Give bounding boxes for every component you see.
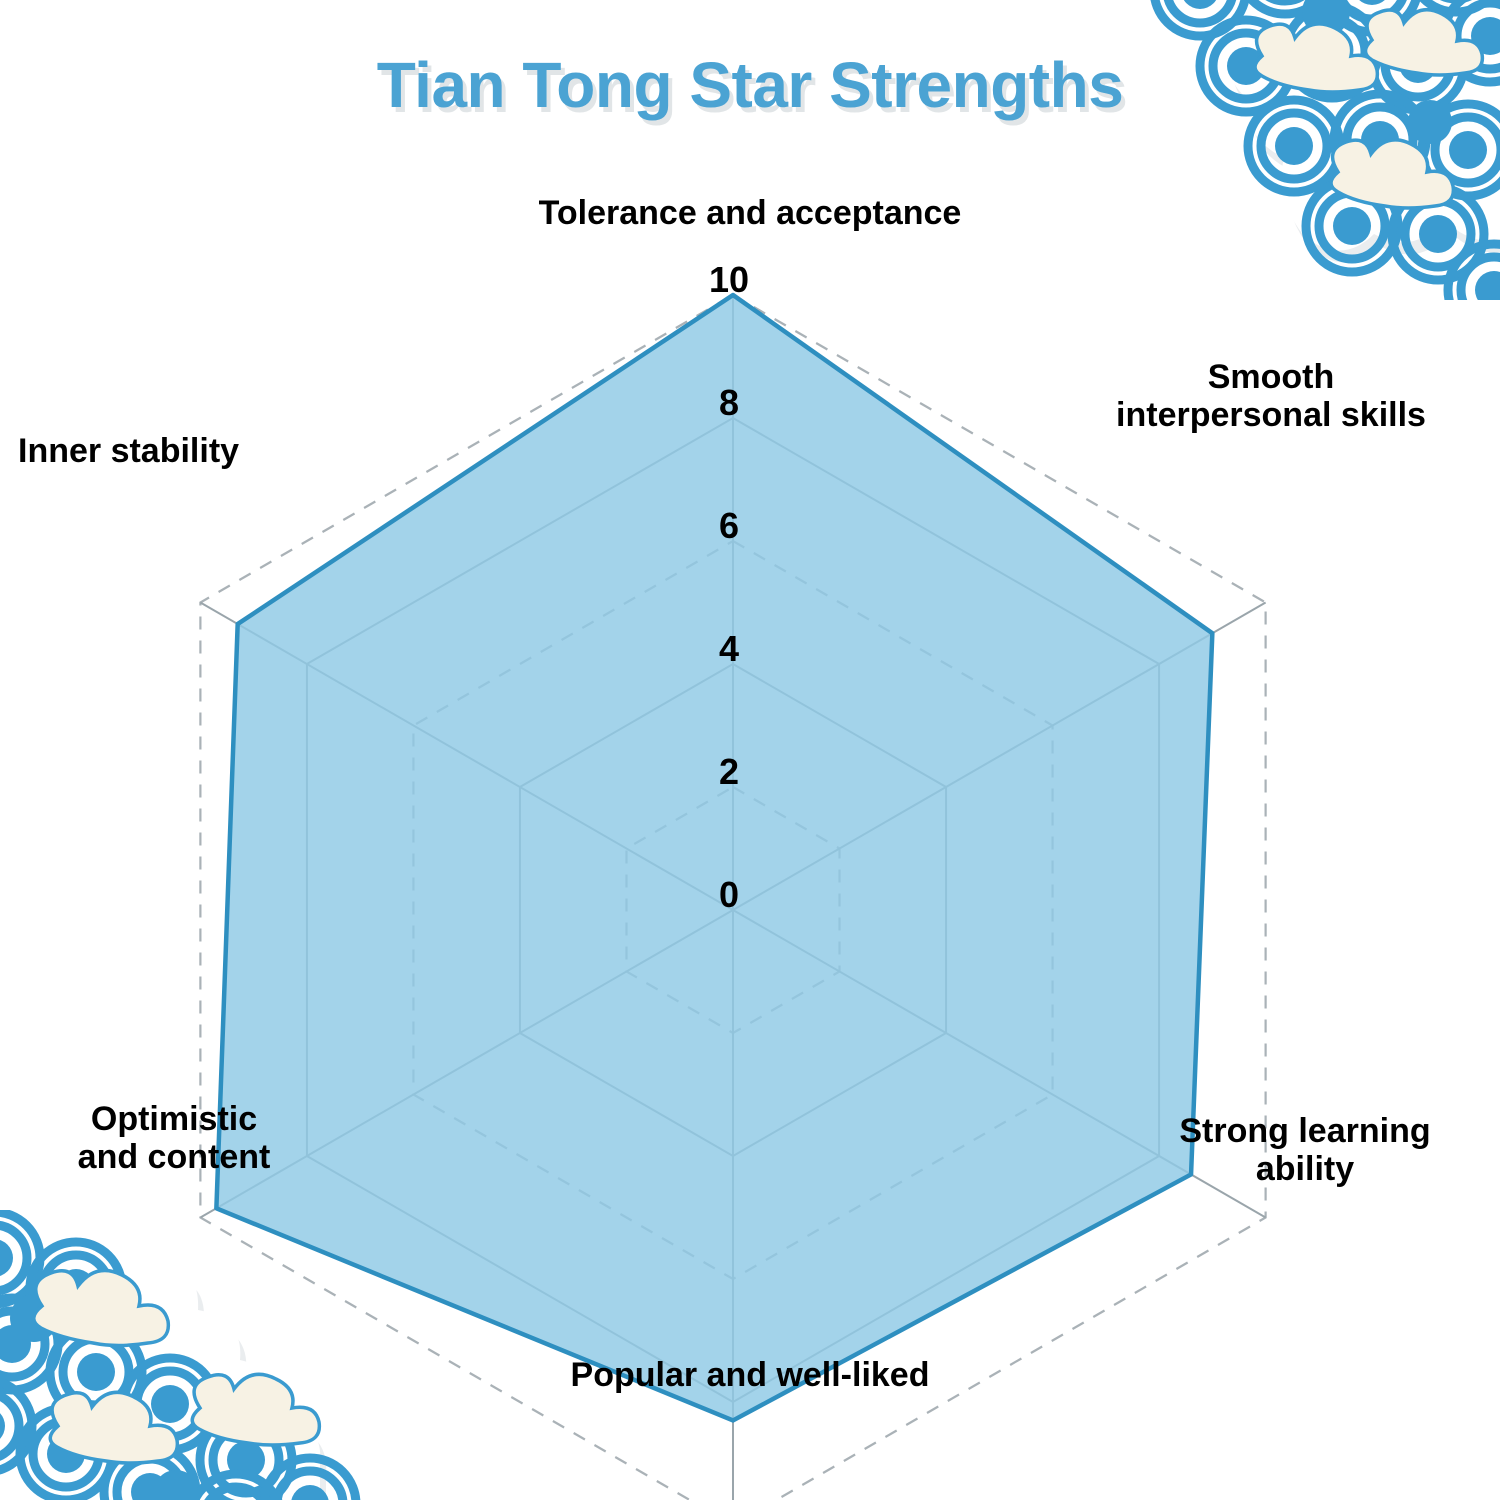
- radial-tick-8: 8: [719, 382, 739, 424]
- axis-label-optimistic-and-content: Optimistic and content: [14, 1100, 334, 1177]
- radial-tick-4: 4: [719, 628, 739, 670]
- axis-label-popular-and-well-liked: Popular and well-liked: [0, 1356, 1500, 1394]
- axis-label-tolerance-and-acceptance: Tolerance and acceptance: [0, 194, 1500, 232]
- axis-label-strong-learning-ability: Strong learning ability: [1120, 1112, 1490, 1189]
- radial-tick-2: 2: [719, 751, 739, 793]
- radial-tick-10: 10: [709, 259, 749, 301]
- radial-tick-0: 0: [719, 874, 739, 916]
- radial-tick-6: 6: [719, 505, 739, 547]
- chart-canvas: Tian Tong Star Strengths 0246810 Toleran…: [0, 0, 1500, 1500]
- axis-label-smooth-interpersonal-skills: Smooth interpersonal skills: [1056, 358, 1486, 435]
- radar-series-tian-tong-star: [216, 295, 1212, 1420]
- axis-label-inner-stability: Inner stability: [18, 432, 348, 470]
